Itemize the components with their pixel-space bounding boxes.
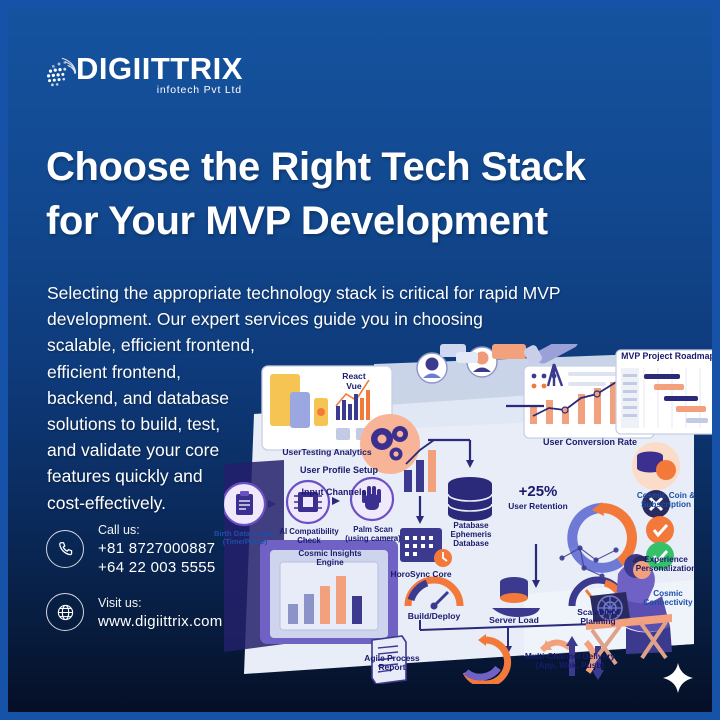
label-database-l3: Database [434,540,508,548]
brand-name: DIGIITTRIX [76,52,243,85]
label-retention: User Retention [496,502,580,511]
tech-stack-illustration: UserTesting Analytics React Vue User Pro… [224,344,712,684]
label-agile-report-sub: Report [350,663,434,672]
illustration-artwork [224,344,712,684]
label-input-channels: Input Channels [274,488,394,497]
label-build-deploy: Build/Deploy [392,612,476,621]
label-mvp-roadmap: MVP Project Roadmap [616,352,712,361]
label-vue: Vue [334,382,374,391]
label-cosmic-coin-sub: Subscription [620,501,712,510]
brand-logo[interactable]: DIGIITTRIX infotech Pvt Ltd [41,52,243,96]
label-server-load: Server Load [472,616,556,625]
globe-icon [46,593,84,631]
label-user-conversion-rate: User Conversion Rate [524,438,656,447]
phone-label: Call us: [98,523,140,537]
website-label: Visit us: [98,596,142,610]
phone-icon [46,530,84,568]
headline-line-2: for Your MVP Development [46,194,686,248]
label-retention-value: +25% [502,484,574,500]
label-scalability-sub: Planning [558,617,638,626]
headline-line-1: Choose the Right Tech Stack [46,140,686,194]
phone-number-1: +81 8727000887 [98,540,215,557]
label-user-profile-setup: User Profile Setup [274,466,404,475]
poster-frame: DIGIITTRIX infotech Pvt Ltd Choose the R… [0,0,720,720]
label-experience-sub: Personalization [620,565,712,574]
poster-canvas: DIGIITTRIX infotech Pvt Ltd Choose the R… [8,8,712,712]
sparkle-icon [663,663,693,693]
brand-tagline: infotech Pvt Ltd [157,84,242,96]
label-palm-scan: Palm Scan [336,526,410,534]
website-url: www.digiittrix.com [98,613,223,630]
label-cosmic-insights-sub: Engine [278,559,382,568]
label-multichannel-sub: (App, Wek, Pusb) [506,661,634,670]
label-react: React [334,372,374,381]
page-title: Choose the Right Tech Stack for Your MVP… [46,140,686,248]
label-cosmic-connectivity-sub: Connectivity [624,599,712,608]
contact-website[interactable]: Visit us: www.digiittrix.com [46,593,223,631]
contact-phone[interactable]: Call us: +81 8727000887 +64 22 003 5555 [46,521,216,577]
phone-number-2: +64 22 003 5555 [98,559,216,576]
globe-grid-icon [41,54,79,92]
body-line: development. Our expert services guide y… [47,306,687,332]
label-horosync-core: HoroSync Core [376,570,466,579]
body-line: Selecting the appropriate technology sta… [47,280,687,306]
label-palm-scan-sub: (using camera) [334,535,412,543]
label-user-testing: UserTesting Analytics [262,448,392,457]
